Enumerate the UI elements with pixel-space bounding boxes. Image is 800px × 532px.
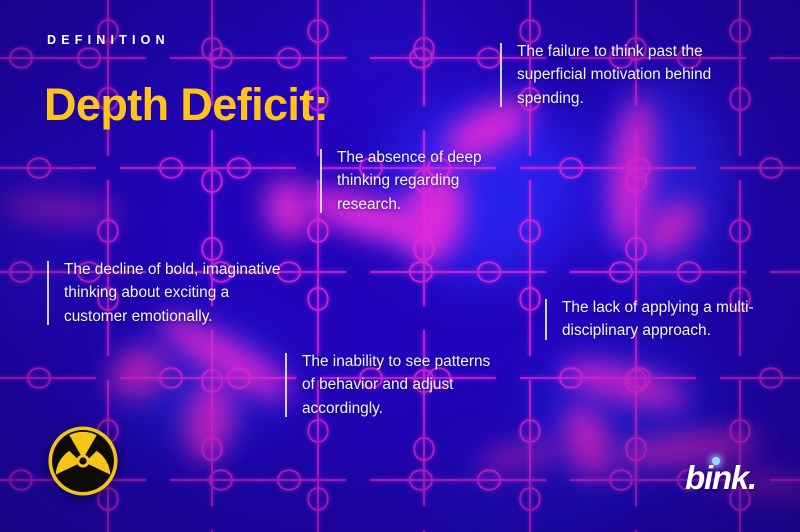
page-title: Depth Deficit: <box>44 80 328 130</box>
sparkle-icon <box>712 457 720 465</box>
brand-text: bink. <box>685 459 756 496</box>
accent-rule <box>285 353 287 417</box>
callout-lack: The lack of applying a multi-disciplinar… <box>545 296 760 343</box>
callout-decline: The decline of bold, imaginative thinkin… <box>47 258 287 328</box>
callout-text: The lack of applying a multi-disciplinar… <box>562 296 760 343</box>
accent-rule <box>47 261 49 325</box>
callout-text: The absence of deep thinking regarding r… <box>337 146 510 216</box>
brand-wordmark: bink. <box>685 459 756 497</box>
callout-failure: The failure to think past the superficia… <box>500 40 725 110</box>
callout-text: The failure to think past the superficia… <box>517 40 725 110</box>
content-layer: DEFINITION Depth Deficit: The failure to… <box>0 0 800 532</box>
callout-absence: The absence of deep thinking regarding r… <box>320 146 510 216</box>
accent-rule <box>320 149 322 213</box>
radioactive-icon <box>47 425 119 497</box>
callout-text: The inability to see patterns of behavio… <box>302 350 500 420</box>
accent-rule <box>500 43 502 107</box>
kicker-label: DEFINITION <box>47 33 170 47</box>
callout-inability: The inability to see patterns of behavio… <box>285 350 500 420</box>
radioactive-badge <box>47 425 119 497</box>
accent-rule <box>545 299 547 340</box>
callout-text: The decline of bold, imaginative thinkin… <box>64 258 287 328</box>
definition-graphic: DEFINITION Depth Deficit: The failure to… <box>0 0 800 532</box>
